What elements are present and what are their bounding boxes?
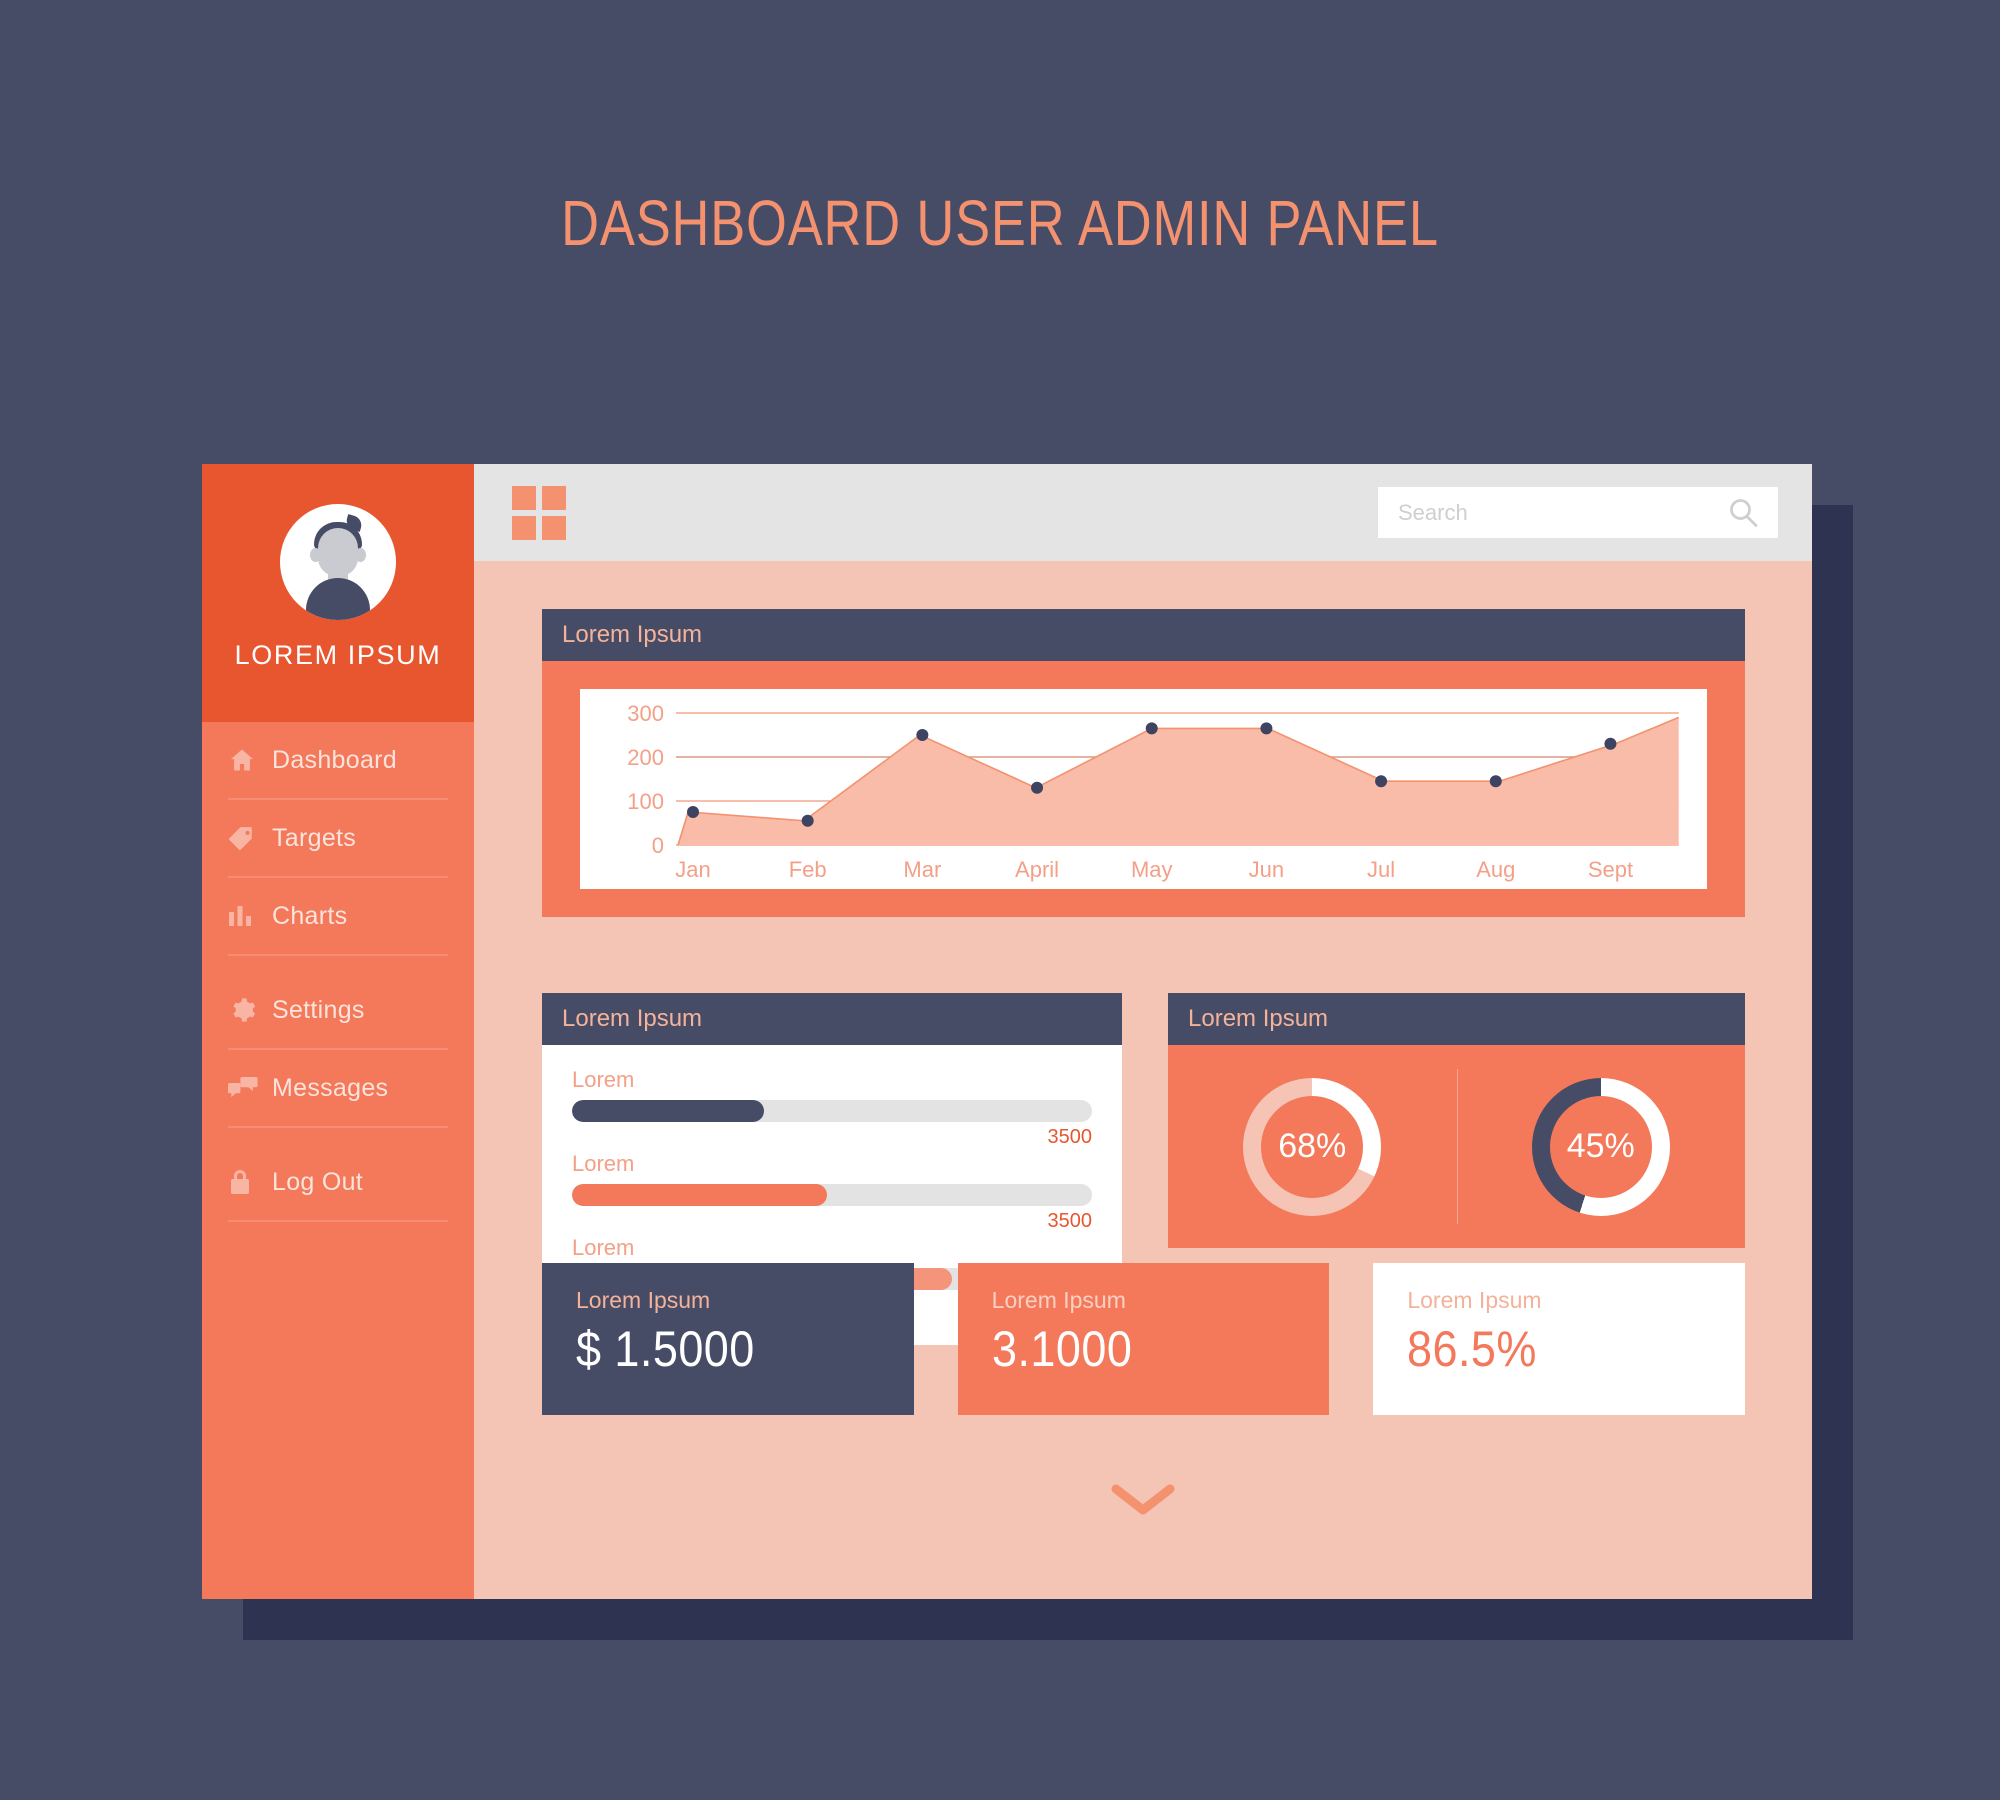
stat-label: Lorem Ipsum	[576, 1287, 914, 1314]
card-header: Lorem Ipsum	[542, 609, 1745, 661]
stat-label: Lorem Ipsum	[992, 1287, 1330, 1314]
sidebar-item-label: Messages	[272, 1074, 388, 1103]
search-input[interactable]	[1396, 499, 1700, 527]
sidebar-item-label: Targets	[272, 824, 356, 853]
data-point-marker	[1031, 782, 1043, 794]
sidebar: LOREM IPSUM Dashboard Targets	[202, 464, 474, 1599]
card-title: Lorem Ipsum	[562, 1005, 702, 1033]
x-axis-tick-label: Mar	[903, 857, 941, 882]
sidebar-item-log-out[interactable]: Log Out	[228, 1144, 448, 1222]
stat-card[interactable]: Lorem Ipsum 86.5%	[1373, 1263, 1745, 1415]
stat-label: Lorem Ipsum	[1407, 1287, 1745, 1314]
stat-value: $ 1.5000	[576, 1320, 880, 1378]
content-area: Lorem Ipsum 3002001000JanFebMarAprilMayJ…	[474, 561, 1812, 1599]
donut-label: 68%	[1261, 1096, 1363, 1198]
stat-value: 86.5%	[1407, 1320, 1711, 1378]
data-point-marker	[1490, 775, 1502, 787]
donut-chart: 68%	[1243, 1078, 1381, 1216]
x-axis-tick-label: April	[1015, 857, 1059, 882]
line-chart-card: Lorem Ipsum 3002001000JanFebMarAprilMayJ…	[542, 609, 1745, 917]
card-title: Lorem Ipsum	[1188, 1005, 1328, 1033]
sidebar-item-label: Charts	[272, 902, 347, 931]
profile-name: LOREM IPSUM	[235, 640, 442, 671]
sidebar-item-label: Settings	[272, 996, 365, 1025]
lock-icon	[228, 1168, 272, 1196]
y-axis-tick-label: 300	[627, 701, 664, 726]
bar-chart-icon	[228, 903, 272, 929]
grid-menu-icon[interactable]	[512, 486, 566, 540]
sidebar-item-messages[interactable]: Messages	[228, 1050, 448, 1128]
sidebar-item-charts[interactable]: Charts	[228, 878, 448, 956]
page-title: DASHBOARD USER ADMIN PANEL	[180, 186, 1820, 260]
stats-row: Lorem Ipsum $ 1.5000 Lorem Ipsum 3.1000 …	[542, 1263, 1745, 1415]
sidebar-item-label: Dashboard	[272, 746, 397, 775]
sidebar-nav: Dashboard Targets Char	[202, 722, 474, 1222]
progress-bar-row: Lorem3500	[572, 1151, 1092, 1233]
data-point-marker	[916, 729, 928, 741]
area-chart: 3002001000JanFebMarAprilMayJunJulAugSept	[580, 689, 1707, 889]
search-icon[interactable]	[1726, 496, 1760, 530]
stat-card[interactable]: Lorem Ipsum 3.1000	[958, 1263, 1330, 1415]
y-axis-tick-label: 100	[627, 789, 664, 814]
y-axis-tick-label: 200	[627, 745, 664, 770]
tag-icon	[228, 825, 272, 851]
stat-card[interactable]: Lorem Ipsum $ 1.5000	[542, 1263, 914, 1415]
sidebar-profile: LOREM IPSUM	[202, 464, 474, 722]
x-axis-tick-label: Jul	[1367, 857, 1395, 882]
x-axis-tick-label: Jun	[1249, 857, 1284, 882]
donut-charts-body: 68%45%	[1168, 1045, 1745, 1248]
app-window: LOREM IPSUM Dashboard Targets	[202, 464, 1812, 1599]
progress-bar-fill	[572, 1184, 827, 1206]
x-axis-tick-label: Feb	[789, 857, 827, 882]
progress-bar-track[interactable]	[572, 1184, 1092, 1206]
sidebar-item-settings[interactable]: Settings	[228, 972, 448, 1050]
data-point-marker	[687, 806, 699, 818]
chevron-down-icon[interactable]	[1108, 1479, 1178, 1519]
progress-bar-fill	[572, 1100, 764, 1122]
progress-bar-label: Lorem	[572, 1235, 1092, 1261]
x-axis-tick-label: May	[1131, 857, 1173, 882]
progress-bar-track[interactable]	[572, 1100, 1092, 1122]
sidebar-item-targets[interactable]: Targets	[228, 800, 448, 878]
search-box[interactable]	[1378, 487, 1778, 538]
progress-bar-label: Lorem	[572, 1067, 1092, 1093]
x-axis-tick-label: Aug	[1476, 857, 1515, 882]
progress-bar-value: 3500	[572, 1126, 1092, 1149]
x-axis-tick-label: Jan	[675, 857, 710, 882]
y-axis-tick-label: 0	[652, 833, 664, 858]
user-avatar-icon	[280, 504, 396, 620]
donut-label: 45%	[1550, 1096, 1652, 1198]
data-point-marker	[1375, 775, 1387, 787]
sidebar-item-dashboard[interactable]: Dashboard	[228, 722, 448, 800]
data-point-marker	[802, 815, 814, 827]
data-point-marker	[1604, 738, 1616, 750]
donut-charts-card: Lorem Ipsum 68%45%	[1168, 993, 1745, 1248]
card-header: Lorem Ipsum	[1168, 993, 1745, 1045]
home-icon	[228, 746, 272, 774]
chart-body: 3002001000JanFebMarAprilMayJunJulAugSept	[542, 661, 1745, 917]
data-point-marker	[1260, 722, 1272, 734]
progress-bar-label: Lorem	[572, 1151, 1092, 1177]
card-header: Lorem Ipsum	[542, 993, 1122, 1045]
data-point-marker	[1146, 722, 1158, 734]
sidebar-item-label: Log Out	[272, 1168, 363, 1197]
progress-bar-value: 3500	[572, 1210, 1092, 1233]
topbar	[474, 464, 1812, 561]
stat-value: 3.1000	[992, 1320, 1296, 1378]
card-title: Lorem Ipsum	[562, 621, 702, 649]
x-axis-tick-label: Sept	[1588, 857, 1633, 882]
donut-chart: 45%	[1532, 1078, 1670, 1216]
chat-bubbles-icon	[228, 1075, 272, 1101]
divider	[1457, 1069, 1458, 1224]
gear-icon	[228, 996, 272, 1024]
progress-bar-row: Lorem3500	[572, 1067, 1092, 1149]
